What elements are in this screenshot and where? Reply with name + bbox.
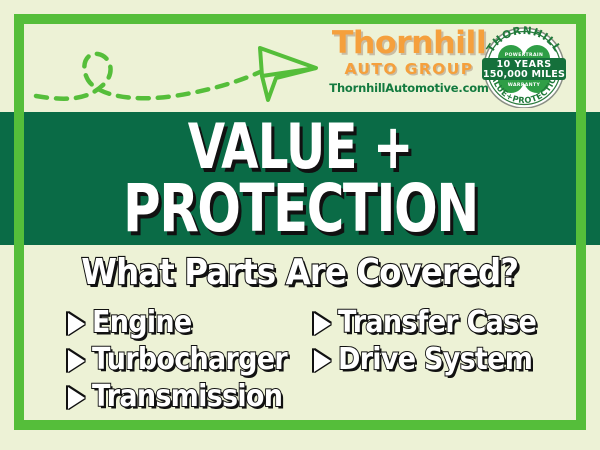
badge-warranty-text: WARRANTY <box>508 82 541 88</box>
list-item: Drive System <box>314 341 558 378</box>
frame-border-top <box>14 14 586 24</box>
triangle-bullet-icon <box>68 313 85 335</box>
frame-border-bottom <box>14 420 586 430</box>
subtitle: What Parts Are Covered? <box>0 252 600 293</box>
headline-line-2: PROTECTION <box>123 179 478 240</box>
badge-miles-text: 150,000 MILES <box>483 69 565 80</box>
list-item: Turbocharger <box>68 341 309 378</box>
headline: VALUE + PROTECTION <box>0 112 600 245</box>
advertisement-banner: Thornhill AUTO GROUP ThornhillAutomotive… <box>0 0 600 450</box>
triangle-bullet-icon <box>68 350 85 372</box>
logo-subtitle: AUTO GROUP <box>324 61 494 78</box>
logo-website: ThornhillAutomotive.com <box>324 81 494 95</box>
part-label: Engine <box>92 305 191 340</box>
part-label: Transmission <box>92 379 282 414</box>
part-label: Transfer Case <box>338 305 536 340</box>
list-item: Engine <box>68 304 309 341</box>
badge-powertrain-text: POWERTRAIN <box>505 52 544 58</box>
dashed-flight-path-icon <box>24 26 324 112</box>
triangle-bullet-icon <box>314 350 331 372</box>
triangle-bullet-icon <box>68 387 85 409</box>
parts-column-right: Transfer Case Drive System <box>314 304 558 378</box>
headline-line-1: VALUE + <box>188 118 413 175</box>
part-label: Drive System <box>338 342 532 377</box>
logo-wordmark: Thornhill <box>322 26 495 60</box>
triangle-bullet-icon <box>314 313 331 335</box>
frame-border-right <box>576 14 586 430</box>
thornhill-logo: Thornhill AUTO GROUP ThornhillAutomotive… <box>324 26 494 110</box>
frame-border-left <box>14 14 24 430</box>
parts-column-left: Engine Turbocharger Transmission <box>68 304 309 415</box>
part-label: Turbocharger <box>92 342 287 377</box>
subtitle-text: What Parts Are Covered? <box>82 252 519 293</box>
list-item: Transmission <box>68 378 309 415</box>
list-item: Transfer Case <box>314 304 558 341</box>
covered-parts-list: Engine Turbocharger Transmission Transfe… <box>24 304 576 416</box>
warranty-badge-seal: THORNHILL VALUE+PROTECTION POWERTRAIN 10… <box>478 24 570 108</box>
